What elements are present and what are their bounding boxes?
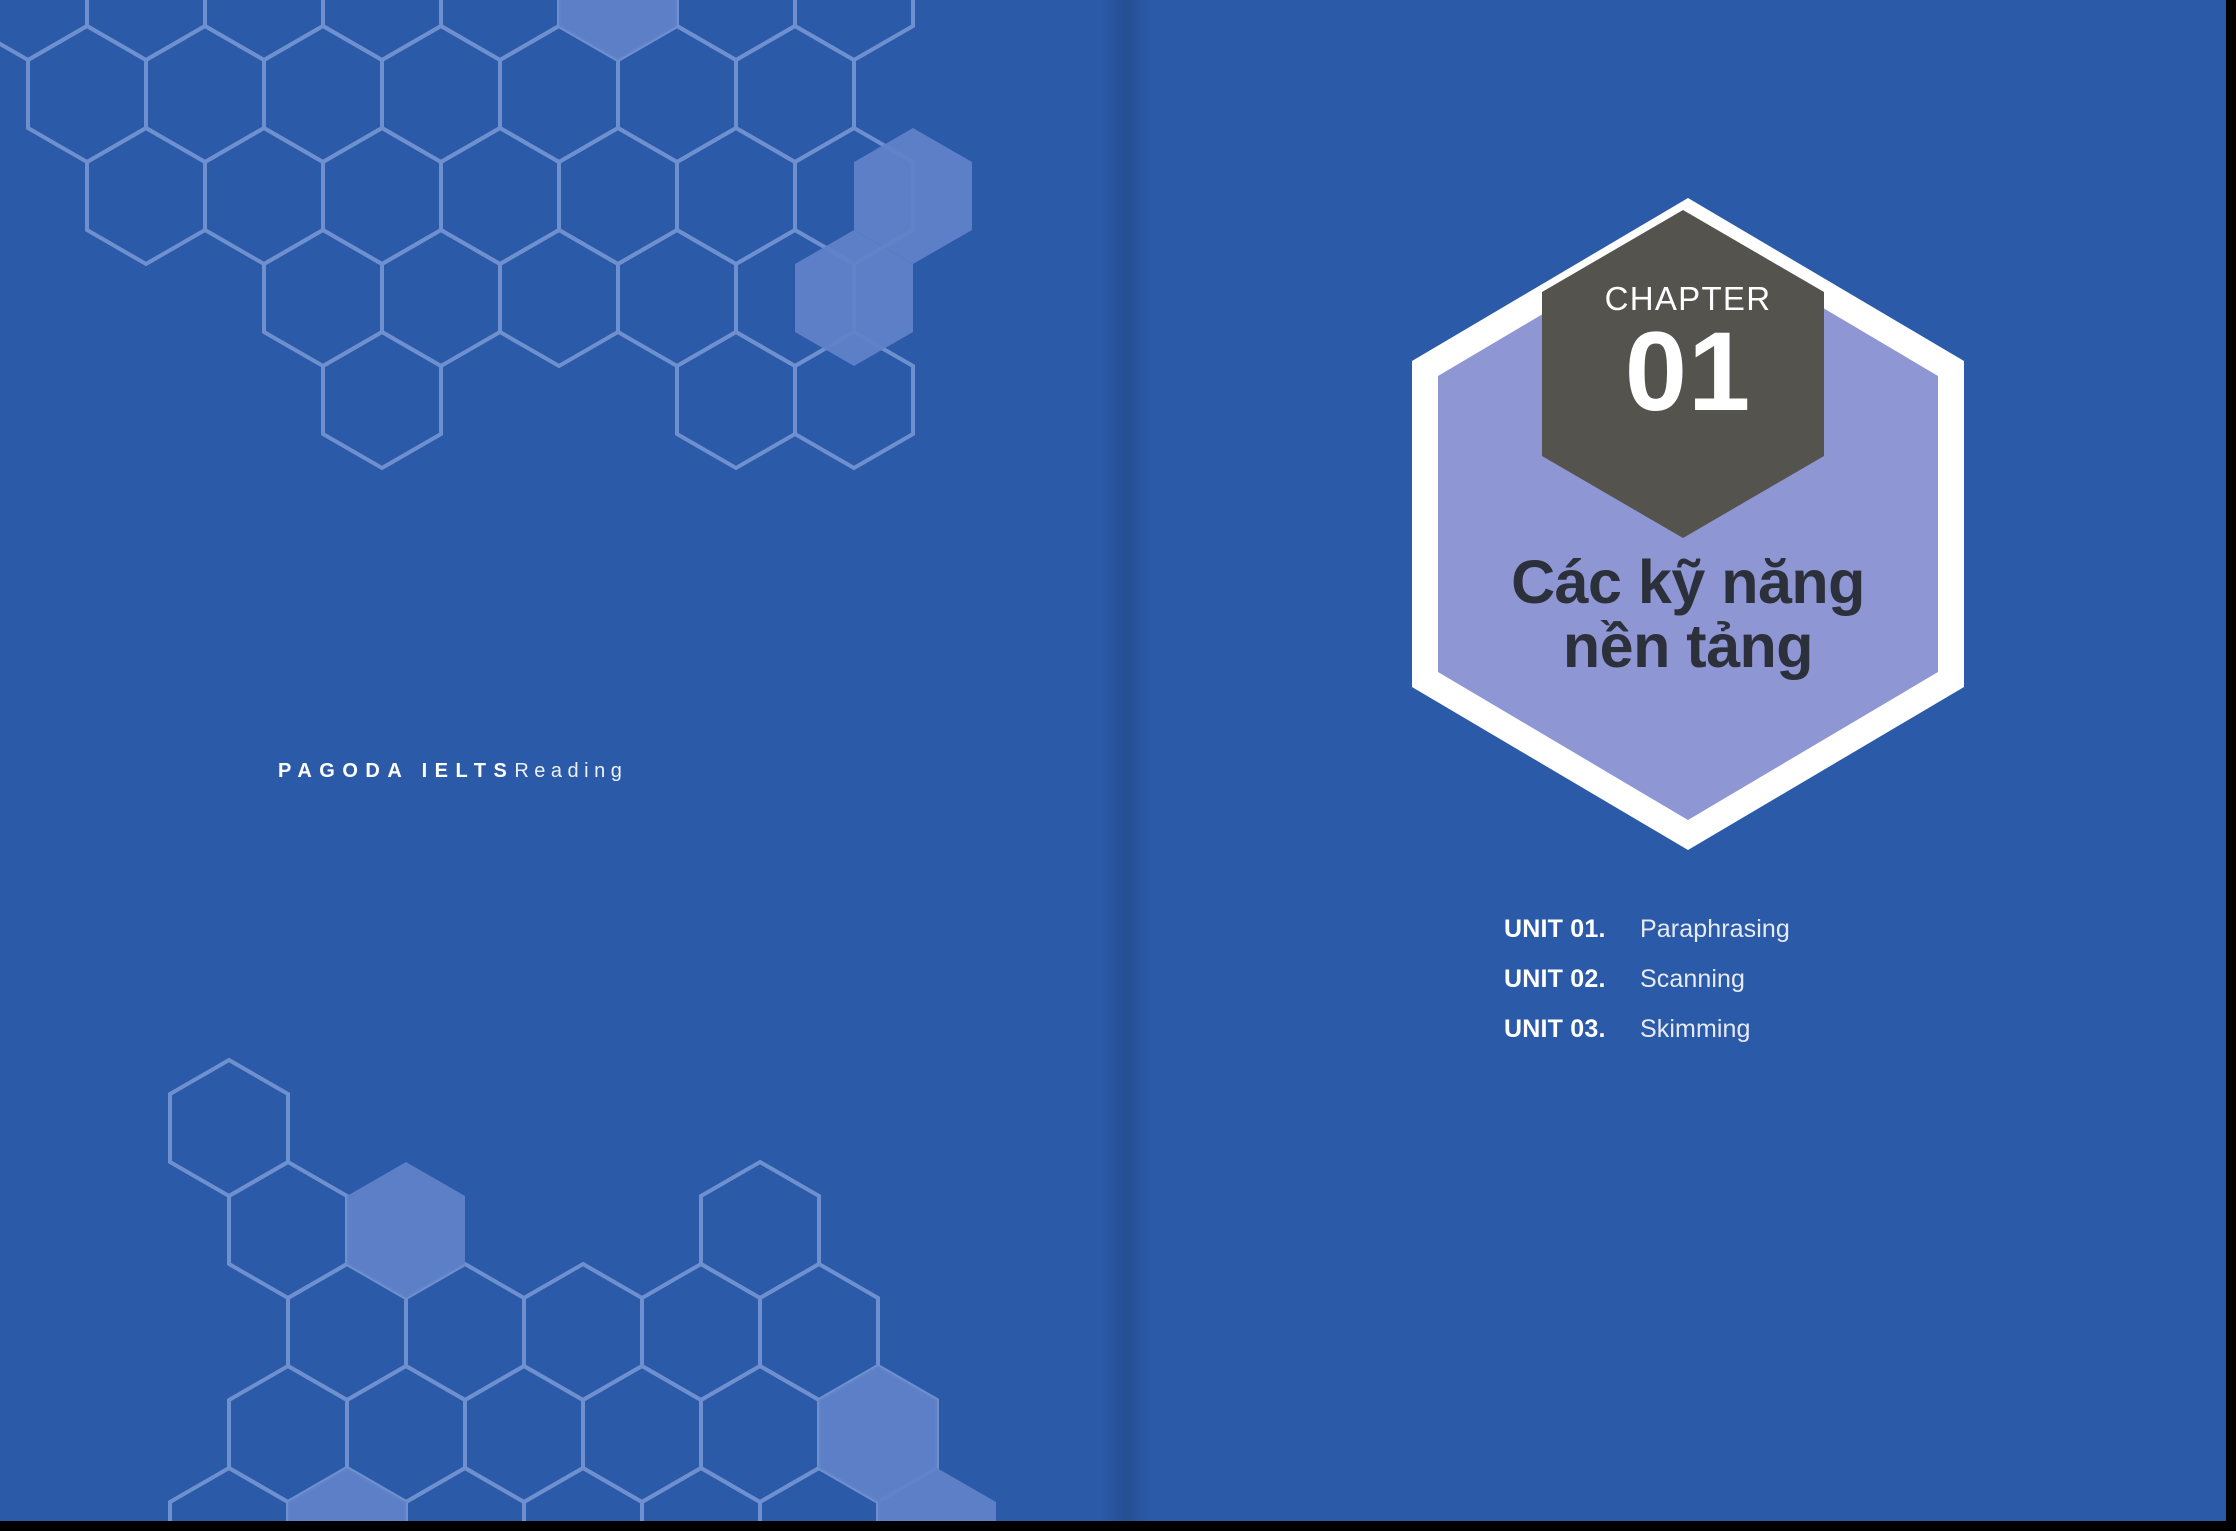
honeycomb-pattern-bottom-left	[110, 1040, 1310, 1521]
unit-title: Scanning	[1640, 965, 1745, 994]
chapter-number: 01	[1412, 308, 1964, 437]
chapter-title-line-2: nền tảng	[1438, 614, 1938, 678]
unit-title: Skimming	[1640, 1015, 1751, 1044]
brand-name: PAGODA IELTS	[278, 760, 514, 782]
unit-number: UNIT 02.	[1504, 965, 1640, 994]
unit-title: Paraphrasing	[1640, 915, 1790, 944]
list-item[interactable]: UNIT 02. Scanning	[1504, 965, 1790, 1015]
book-spread-page: PAGODA IELTSReading CHAPTER 01 Các kỹ nă…	[0, 0, 2226, 1521]
unit-list: UNIT 01. Paraphrasing UNIT 02. Scanning …	[1504, 915, 1790, 1065]
chapter-title: Các kỹ năng nền tảng	[1438, 550, 1938, 678]
page-branding: PAGODA IELTSReading	[278, 760, 627, 783]
brand-skill: Reading	[514, 760, 627, 782]
chapter-title-line-1: Các kỹ năng	[1438, 550, 1938, 614]
honeycomb-pattern-top-left	[0, 0, 1190, 615]
chapter-badge: CHAPTER 01 Các kỹ năng nền tảng	[1412, 198, 1964, 858]
list-item[interactable]: UNIT 01. Paraphrasing	[1504, 915, 1790, 965]
list-item[interactable]: UNIT 03. Skimming	[1504, 1015, 1790, 1065]
book-spine-gutter	[1100, 0, 1150, 1521]
unit-number: UNIT 03.	[1504, 1015, 1640, 1044]
unit-number: UNIT 01.	[1504, 915, 1640, 944]
